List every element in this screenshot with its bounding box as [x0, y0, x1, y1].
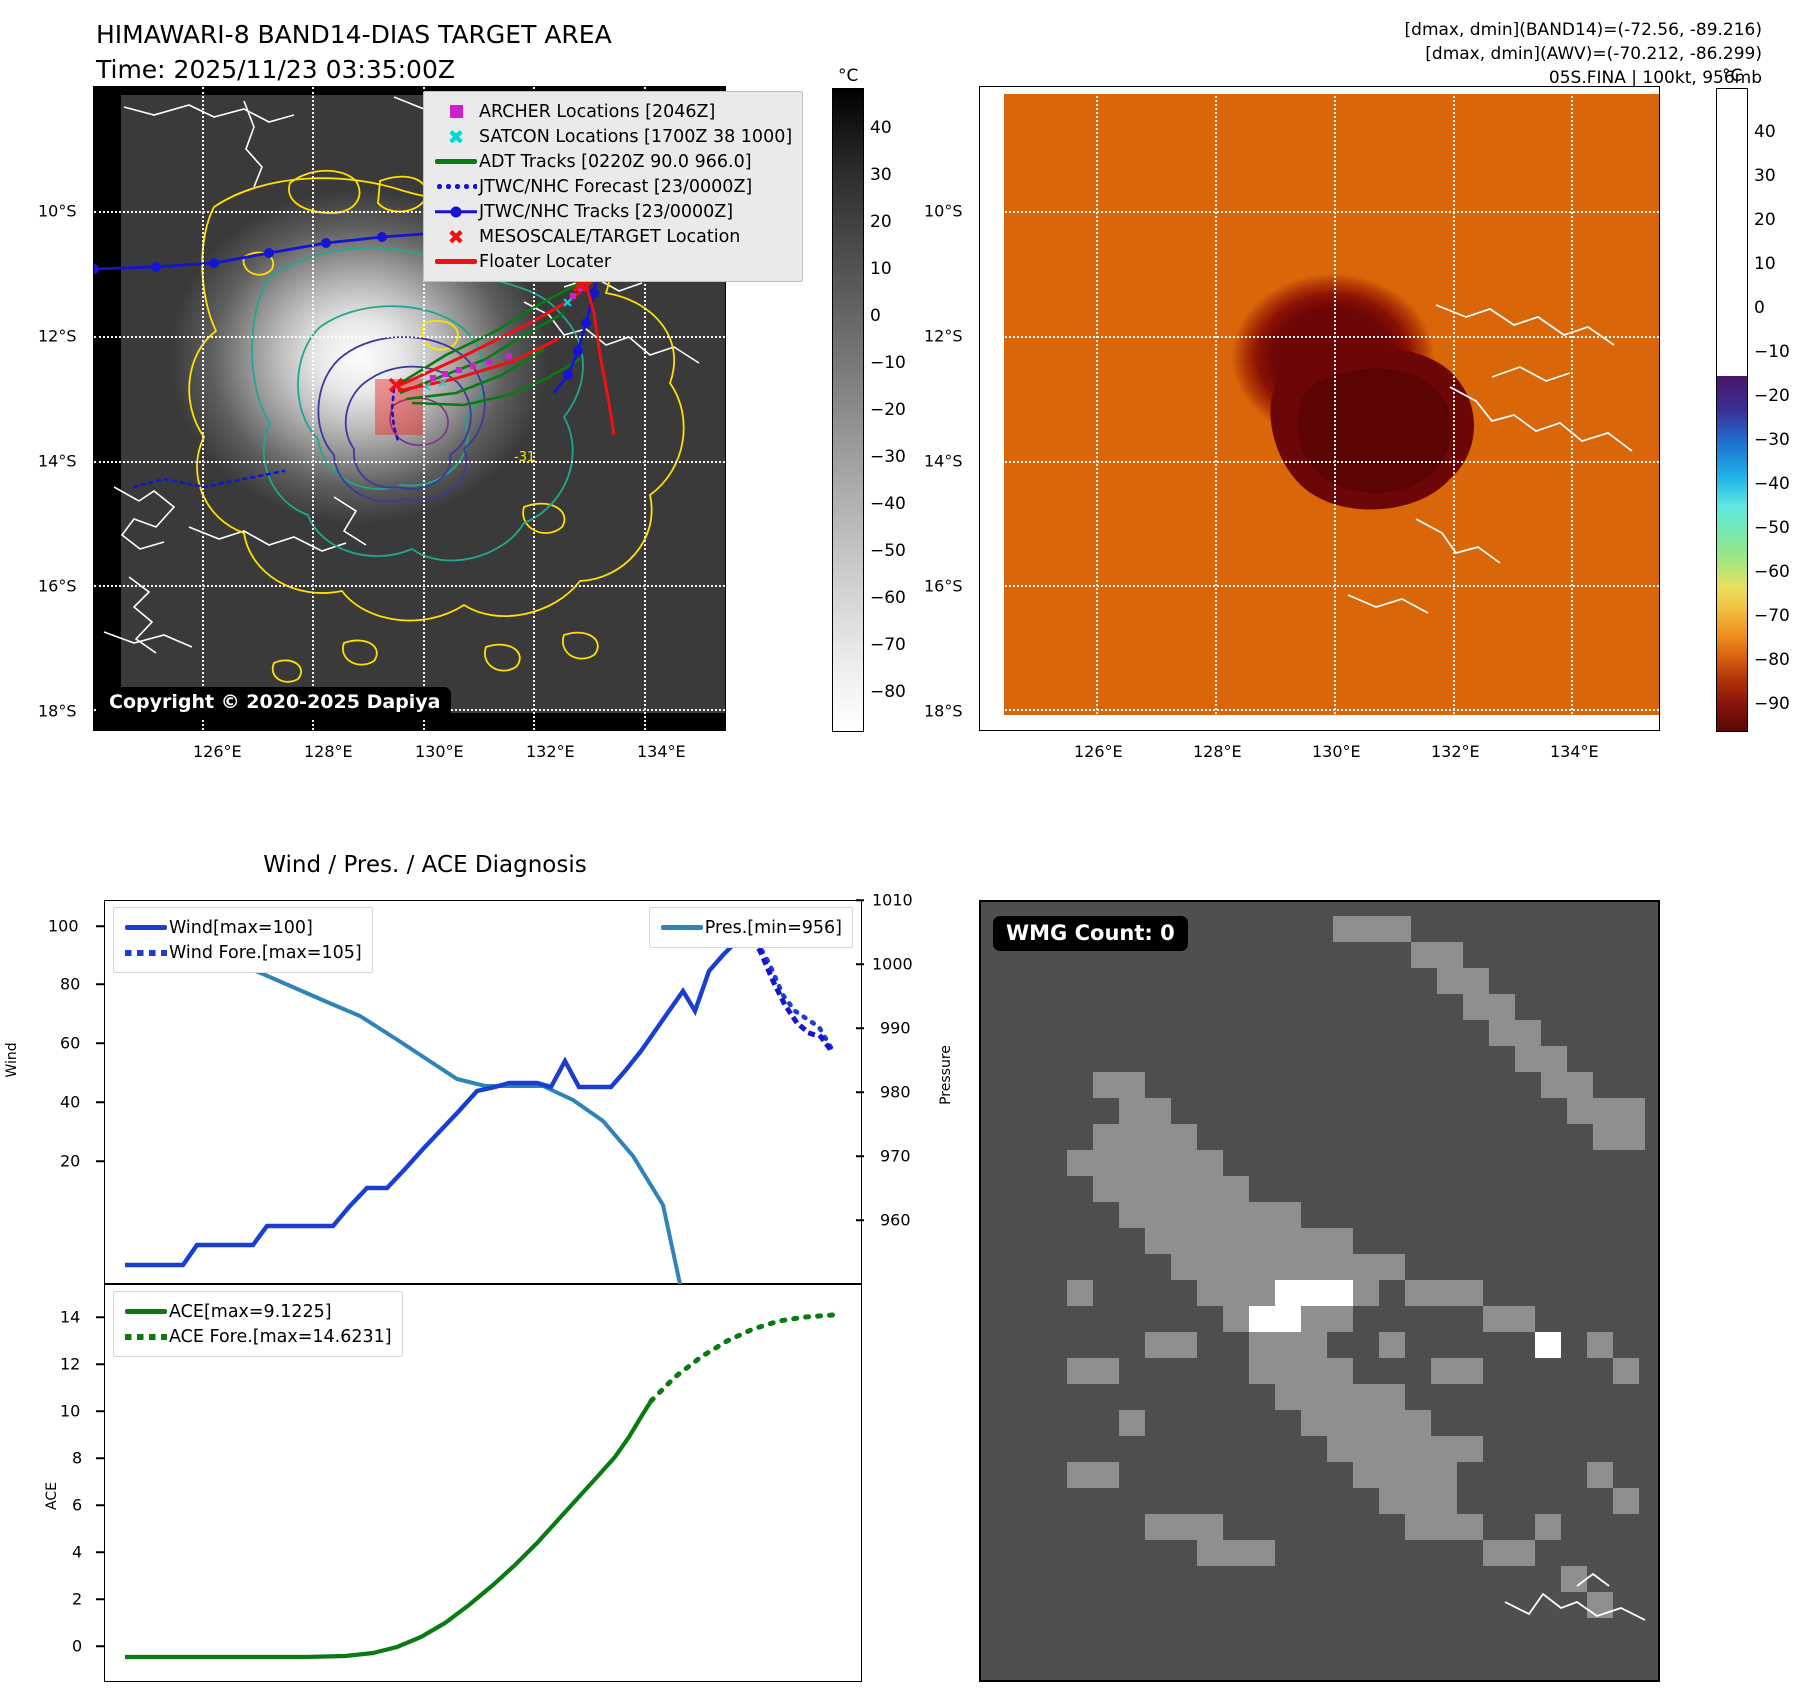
ace-ytick: 4 [72, 1543, 82, 1562]
pressure-axis-label: Pressure [938, 1045, 954, 1105]
jtwc-forecast-track [134, 389, 398, 487]
legend-label: Wind[max=100] [169, 918, 313, 938]
ace-ytick: 2 [72, 1590, 82, 1609]
ace-legend[interactable]: ACE[max=9.1225] ACE Fore.[max=14.6231] [113, 1291, 403, 1357]
ace-forecast-dotted-icon [123, 1334, 169, 1340]
wind-ytick: 40 [60, 1093, 80, 1112]
ir-colorbar-unit: °C [838, 66, 858, 86]
ir-map-panel[interactable]: -31 [93, 86, 726, 731]
title-line-1: HIMAWARI-8 BAND14-DIAS TARGET AREA [96, 20, 612, 49]
wmg-canvas [981, 902, 1658, 1680]
wind-legend[interactable]: Wind[max=100] Wind Fore.[max=105] [113, 907, 373, 973]
legend-item-pressure[interactable]: Pres.[min=956] [659, 915, 842, 940]
awv-lon-tick: 126°E [1074, 742, 1123, 761]
legend-item-mesoscale-target[interactable]: ✖ MESOSCALE/TARGET Location [433, 224, 792, 249]
legend-label: JTWC/NHC Forecast [23/0000Z] [479, 177, 752, 197]
cb-tick: 0 [1754, 298, 1765, 318]
ir-lon-tick: 134°E [637, 742, 686, 761]
legend-label: ACE[max=9.1225] [169, 1302, 332, 1322]
cb-tick: −10 [870, 353, 906, 373]
wind-axis-label: Wind [4, 1042, 20, 1077]
ir-lat-tick: 16°S [38, 577, 77, 596]
cb-tick: −20 [1754, 386, 1790, 406]
legend-label: Wind Fore.[max=105] [169, 943, 362, 963]
cb-tick: −40 [870, 494, 906, 514]
legend-item-ace-forecast[interactable]: ACE Fore.[max=14.6231] [123, 1324, 392, 1349]
legend-item-archer[interactable]: ARCHER Locations [2046Z] [433, 99, 792, 124]
cb-tick: −80 [1754, 650, 1790, 670]
dashboard-root: HIMAWARI-8 BAND14-DIAS TARGET AREA Time:… [0, 0, 1797, 1690]
wind-forecast-series [733, 935, 833, 1051]
awv-overlays [980, 87, 1659, 730]
wind-ytick: 80 [60, 975, 80, 994]
jtwc-forecast-dotted-icon [433, 184, 479, 189]
legend-item-jtwc-forecast[interactable]: JTWC/NHC Forecast [23/0000Z] [433, 174, 792, 199]
pressure-series [125, 958, 680, 1284]
archer-square-icon [433, 105, 479, 118]
cb-tick: −30 [1754, 430, 1790, 450]
awv-lon-tick: 130°E [1312, 742, 1361, 761]
wind-ytick: 20 [60, 1152, 80, 1171]
ir-lon-tick: 126°E [193, 742, 242, 761]
ir-lat-tick: 14°S [38, 452, 77, 471]
cb-tick: −90 [1754, 694, 1790, 714]
legend-label: JTWC/NHC Tracks [23/0000Z] [479, 202, 733, 222]
ace-ytick: 12 [60, 1355, 80, 1374]
cb-tick: 40 [1754, 122, 1776, 142]
ace-series [125, 1401, 651, 1657]
awv-colorbar-ticks: 40 30 20 10 0 −10 −20 −30 −40 −50 −60 −7… [1754, 88, 1797, 732]
cb-tick: 30 [1754, 166, 1776, 186]
wmg-panel[interactable]: WMG Count: 0 [979, 900, 1660, 1682]
cb-tick: 10 [1754, 254, 1776, 274]
legend-label: ARCHER Locations [2046Z] [479, 102, 715, 122]
cb-tick: 30 [870, 165, 892, 185]
cb-tick: −60 [870, 588, 906, 608]
ir-lat-tick: 10°S [38, 202, 77, 221]
ir-colorbar-ticks: 40 30 20 10 0 −10 −20 −30 −40 −50 −60 −7… [870, 88, 940, 732]
awv-lat-tick: 14°S [924, 452, 963, 471]
ir-lon-tick: 128°E [304, 742, 353, 761]
diagnosis-title: Wind / Pres. / ACE Diagnosis [0, 852, 850, 878]
awv-lat-tick: 10°S [924, 202, 963, 221]
legend-item-satcon[interactable]: ✖ SATCON Locations [1700Z 38 1000] [433, 124, 792, 149]
awv-map-canvas [980, 87, 1659, 730]
dmax-dmin-band14: [dmax, dmin](BAND14)=(-72.56, -89.216) [1405, 18, 1762, 42]
awv-colorbar-unit: °C [1722, 66, 1742, 86]
pres-ytick: 1010 [872, 891, 913, 910]
pres-ytick: 970 [880, 1147, 911, 1166]
cb-tick: −60 [1754, 562, 1790, 582]
legend-label: ACE Fore.[max=14.6231] [169, 1327, 392, 1347]
dmax-dmin-awv: [dmax, dmin](AWV)=(-70.212, -86.299) [1405, 42, 1762, 66]
ace-chart[interactable]: ACE[max=9.1225] ACE Fore.[max=14.6231] [104, 1284, 862, 1682]
cb-tick: −50 [870, 541, 906, 561]
awv-map-panel[interactable] [979, 86, 1660, 731]
pres-ytick: 990 [880, 1019, 911, 1038]
pres-ytick: 1000 [872, 955, 913, 974]
ir-colorbar [832, 88, 864, 732]
cb-tick: −20 [870, 400, 906, 420]
wmg-count-badge: WMG Count: 0 [993, 916, 1188, 951]
awv-colorbar [1716, 88, 1748, 732]
ir-map-legend[interactable]: ARCHER Locations [2046Z] ✖ SATCON Locati… [423, 91, 803, 282]
floater-line-icon [433, 259, 479, 264]
legend-label: Pres.[min=956] [705, 918, 842, 938]
ace-ytick: 8 [72, 1449, 82, 1468]
cb-tick: −50 [1754, 518, 1790, 538]
pressure-legend[interactable]: Pres.[min=956] [649, 907, 853, 948]
legend-item-wind-forecast[interactable]: Wind Fore.[max=105] [123, 940, 362, 965]
cb-tick: 20 [1754, 210, 1776, 230]
ir-lon-tick: 132°E [526, 742, 575, 761]
legend-item-adt-tracks[interactable]: ADT Tracks [0220Z 90.0 966.0] [433, 149, 792, 174]
cb-tick: −10 [1754, 342, 1790, 362]
legend-item-floater-locater[interactable]: Floater Locater [433, 249, 792, 274]
wind-forecast-dotted-icon [123, 950, 169, 956]
cb-tick: 10 [870, 259, 892, 279]
floater-locater [396, 277, 614, 435]
legend-label: MESOSCALE/TARGET Location [479, 227, 740, 247]
legend-item-jtwc-tracks[interactable]: JTWC/NHC Tracks [23/0000Z] [433, 199, 792, 224]
awv-core [1270, 347, 1474, 509]
awv-lat-tick: 18°S [924, 702, 963, 721]
title-line-2: Time: 2025/11/23 03:35:00Z [96, 55, 612, 84]
cb-tick: 40 [870, 118, 892, 138]
legend-item-wind[interactable]: Wind[max=100] [123, 915, 362, 940]
wind-ytick: 100 [48, 917, 79, 936]
copyright-badge: Copyright © 2020-2025 Dapiya [98, 687, 451, 718]
awv-lat-tick: 12°S [924, 327, 963, 346]
ace-forecast-series [651, 1315, 833, 1401]
cb-tick: 0 [870, 306, 881, 326]
ir-lon-tick: 130°E [415, 742, 464, 761]
ir-lat-tick: 12°S [38, 327, 77, 346]
wmg-cells [981, 902, 1658, 1680]
contour-value-label: -31 [514, 450, 535, 465]
pres-ytick: 960 [880, 1211, 911, 1230]
cb-tick: 20 [870, 212, 892, 232]
wind-ytick: 60 [60, 1034, 80, 1053]
cb-tick: −30 [870, 447, 906, 467]
ir-lat-tick: 18°S [38, 702, 77, 721]
ace-line-icon [123, 1309, 169, 1314]
awv-lon-tick: 132°E [1431, 742, 1480, 761]
cb-tick: −80 [870, 682, 906, 702]
page-title: HIMAWARI-8 BAND14-DIAS TARGET AREA Time:… [96, 20, 612, 84]
satcon-x-icon: ✖ [433, 127, 479, 147]
wmg-grey-cells [1067, 916, 1645, 1618]
jtwc-track-icon [433, 209, 479, 214]
wind-pressure-chart[interactable]: Wind[max=100] Wind Fore.[max=105] Pres.[… [104, 900, 862, 1284]
cb-tick: −70 [870, 635, 906, 655]
ace-axis-label: ACE [44, 1482, 60, 1510]
pres-ytick: 980 [880, 1083, 911, 1102]
awv-lon-tick: 128°E [1193, 742, 1242, 761]
wind-series [125, 945, 733, 1265]
cb-tick: −40 [1754, 474, 1790, 494]
ace-ytick: 6 [72, 1496, 82, 1515]
adt-line-icon [433, 159, 479, 164]
header-stats: [dmax, dmin](BAND14)=(-72.56, -89.216) [… [1405, 18, 1762, 90]
mesoscale-x-icon: ✖ [433, 227, 479, 247]
legend-item-ace[interactable]: ACE[max=9.1225] [123, 1299, 392, 1324]
legend-label: ADT Tracks [0220Z 90.0 966.0] [479, 152, 752, 172]
legend-label: Floater Locater [479, 252, 611, 272]
cb-tick: −70 [1754, 606, 1790, 626]
ace-ytick: 10 [60, 1402, 80, 1421]
pressure-line-icon [659, 925, 705, 930]
awv-lon-tick: 134°E [1550, 742, 1599, 761]
wind-line-icon [123, 925, 169, 930]
ace-ytick: 0 [72, 1637, 82, 1656]
legend-label: SATCON Locations [1700Z 38 1000] [479, 127, 792, 147]
ace-ytick: 14 [60, 1308, 80, 1327]
awv-lat-tick: 16°S [924, 577, 963, 596]
